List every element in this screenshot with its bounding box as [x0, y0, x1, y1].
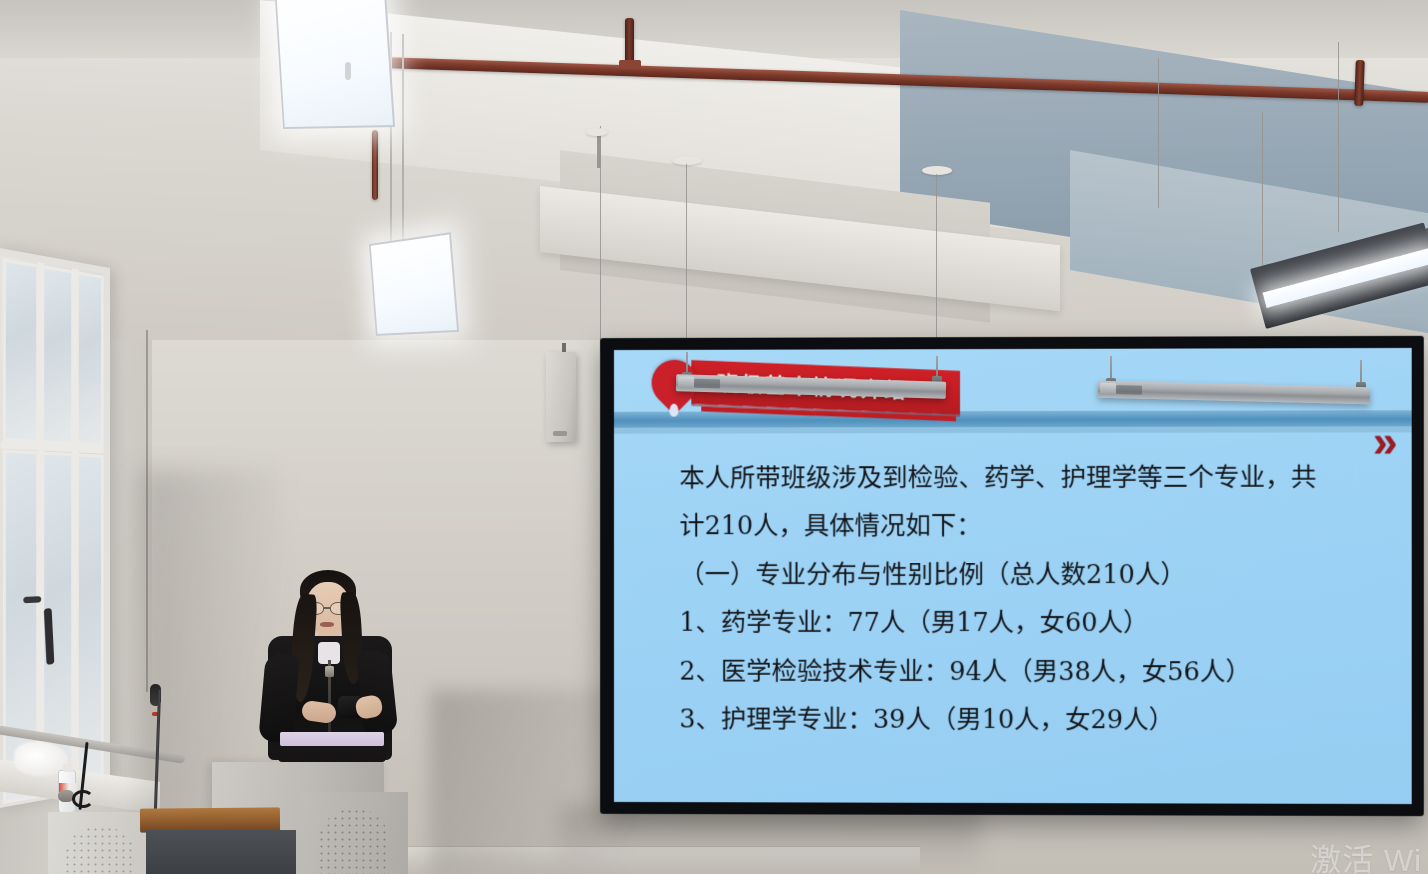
fixture-endcap-left-2 — [1100, 383, 1116, 395]
ceiling-sprinkler-disc-3 — [922, 166, 952, 175]
ceiling-panel-light-2 — [369, 232, 459, 336]
jacket-zipper-pull — [325, 666, 334, 677]
wall-speaker — [546, 352, 576, 442]
presentation-display[interactable]: 班级基本情况介绍 » 本人所带班级涉及到检验、药学、护理学等三个专业，共 计21… — [600, 336, 1424, 816]
hanger-rod-4 — [1158, 58, 1159, 208]
slide-line-major-3: 3、护理学专业：39人（男10人，女29人） — [679, 697, 1381, 745]
window-mullion-vertical-1 — [37, 262, 44, 794]
jacket-hem — [278, 746, 386, 762]
fixture-label-2 — [1116, 385, 1142, 395]
slide-line-major-1: 1、药学专业：77人（男17人，女60人） — [679, 600, 1381, 647]
hanger-rod-6 — [1262, 112, 1263, 282]
desk-body — [146, 830, 296, 874]
pipe-joint — [619, 60, 641, 69]
windows-activation-watermark: 激活 Wi — [1310, 835, 1422, 874]
slide-line-1: 本人所带班级涉及到检验、药学、护理学等三个专业，共 — [679, 454, 1381, 501]
ceiling — [0, 0, 1428, 340]
ceiling-sprinkler-disc-1 — [586, 128, 608, 136]
slide-line-2: 计210人，具体情况如下： — [679, 503, 1381, 550]
ceiling-panel-light-1 — [275, 0, 395, 129]
jacket-stripe — [280, 732, 384, 746]
fixture-label-1 — [694, 379, 720, 389]
pin-drop-icon — [669, 404, 678, 417]
ceiling-sprinkler-disc-2 — [672, 156, 702, 165]
wall-shadow-under-screen — [560, 806, 980, 874]
slide-line-3: （一）专业分布与性别比例（总人数210人） — [679, 552, 1381, 599]
slide-body: 本人所带班级涉及到检验、药学、护理学等三个专业，共 计210人，具体情况如下： … — [679, 454, 1381, 746]
slide-line-major-2: 2、医学检验技术专业：94人（男38人，女56人） — [679, 648, 1381, 695]
ceiling-pipe-vertical-left — [625, 18, 634, 66]
slide-header-band — [614, 410, 1412, 427]
ceiling-light-spot — [345, 62, 351, 80]
ceiling-pipe-vertical-right — [1354, 60, 1365, 106]
ceiling-pipe-drop — [372, 130, 378, 200]
classroom-photo-scene: 班级基本情况介绍 » 本人所带班级涉及到检验、药学、护理学等三个专业，共 计21… — [0, 0, 1428, 874]
presenter-mouth — [320, 622, 334, 627]
desk-wooden-top — [140, 807, 280, 832]
fixture-endcap-left-1 — [678, 376, 694, 388]
window-pane-tr — [76, 271, 104, 447]
wall-speaker-badge — [553, 431, 567, 436]
window-mullion-vertical-2 — [72, 268, 79, 787]
window-pane-tl — [3, 258, 39, 443]
window — [0, 247, 110, 809]
window-latch[interactable] — [23, 596, 41, 603]
lectern-speaker-grille — [318, 808, 390, 874]
slide-canvas[interactable]: 班级基本情况介绍 » 本人所带班级涉及到检验、药学、护理学等三个专业，共 计21… — [614, 348, 1412, 804]
audio-cable-coil — [72, 790, 94, 808]
window-pane-tm — [41, 265, 74, 445]
hanger-rod-5 — [1338, 42, 1339, 232]
hanger-rod-8 — [936, 174, 937, 356]
hanger-rod-7 — [686, 164, 687, 354]
bottle-cap — [63, 764, 73, 772]
